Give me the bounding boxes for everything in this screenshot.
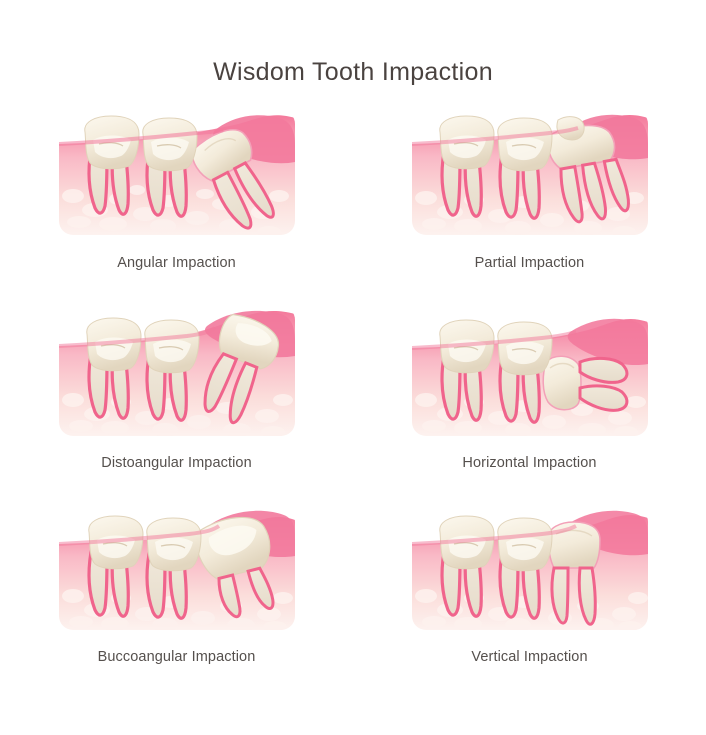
molar-2-crown[interactable] — [146, 518, 200, 571]
illustration-page: Wisdom Tooth Impaction — [0, 0, 706, 735]
panel-label-vertical: Vertical Impaction — [353, 649, 706, 665]
vertical-impaction-illustration — [410, 494, 650, 639]
panel-distoangular: Distoangular Impaction — [0, 300, 353, 471]
figure-distoangular — [57, 300, 297, 445]
molar-2-crown[interactable] — [142, 118, 196, 171]
impacted-crown — [543, 356, 581, 410]
panel-label-horizontal: Horizontal Impaction — [353, 455, 706, 471]
molar-2-crown[interactable] — [497, 322, 551, 375]
molar-2-crown[interactable] — [144, 320, 198, 373]
molar-2-crown[interactable] — [497, 118, 551, 171]
horizontal-impaction-illustration — [410, 300, 650, 445]
figure-buccoangular — [57, 494, 297, 639]
distoangular-impaction-illustration — [57, 300, 297, 445]
angular-impaction-illustration — [57, 100, 297, 245]
panel-buccoangular: Buccoangular Impaction — [0, 494, 353, 665]
figure-partial — [410, 100, 650, 245]
panel-partial: Partial Impaction — [353, 100, 706, 271]
panel-label-partial: Partial Impaction — [353, 255, 706, 271]
panel-label-distoangular: Distoangular Impaction — [0, 455, 353, 471]
panel-vertical: Vertical Impaction — [353, 494, 706, 665]
page-title: Wisdom Tooth Impaction — [0, 58, 706, 87]
figure-horizontal — [410, 300, 650, 445]
figure-angular — [57, 100, 297, 245]
buccoangular-impaction-illustration — [57, 494, 297, 639]
molar-2-crown[interactable] — [497, 518, 551, 571]
panel-horizontal: Horizontal Impaction — [353, 300, 706, 471]
panel-label-buccoangular: Buccoangular Impaction — [0, 649, 353, 665]
partial-impaction-illustration — [410, 100, 650, 245]
panel-angular: Angular Impaction — [0, 100, 353, 271]
figure-vertical — [410, 494, 650, 639]
panel-label-angular: Angular Impaction — [0, 255, 353, 271]
